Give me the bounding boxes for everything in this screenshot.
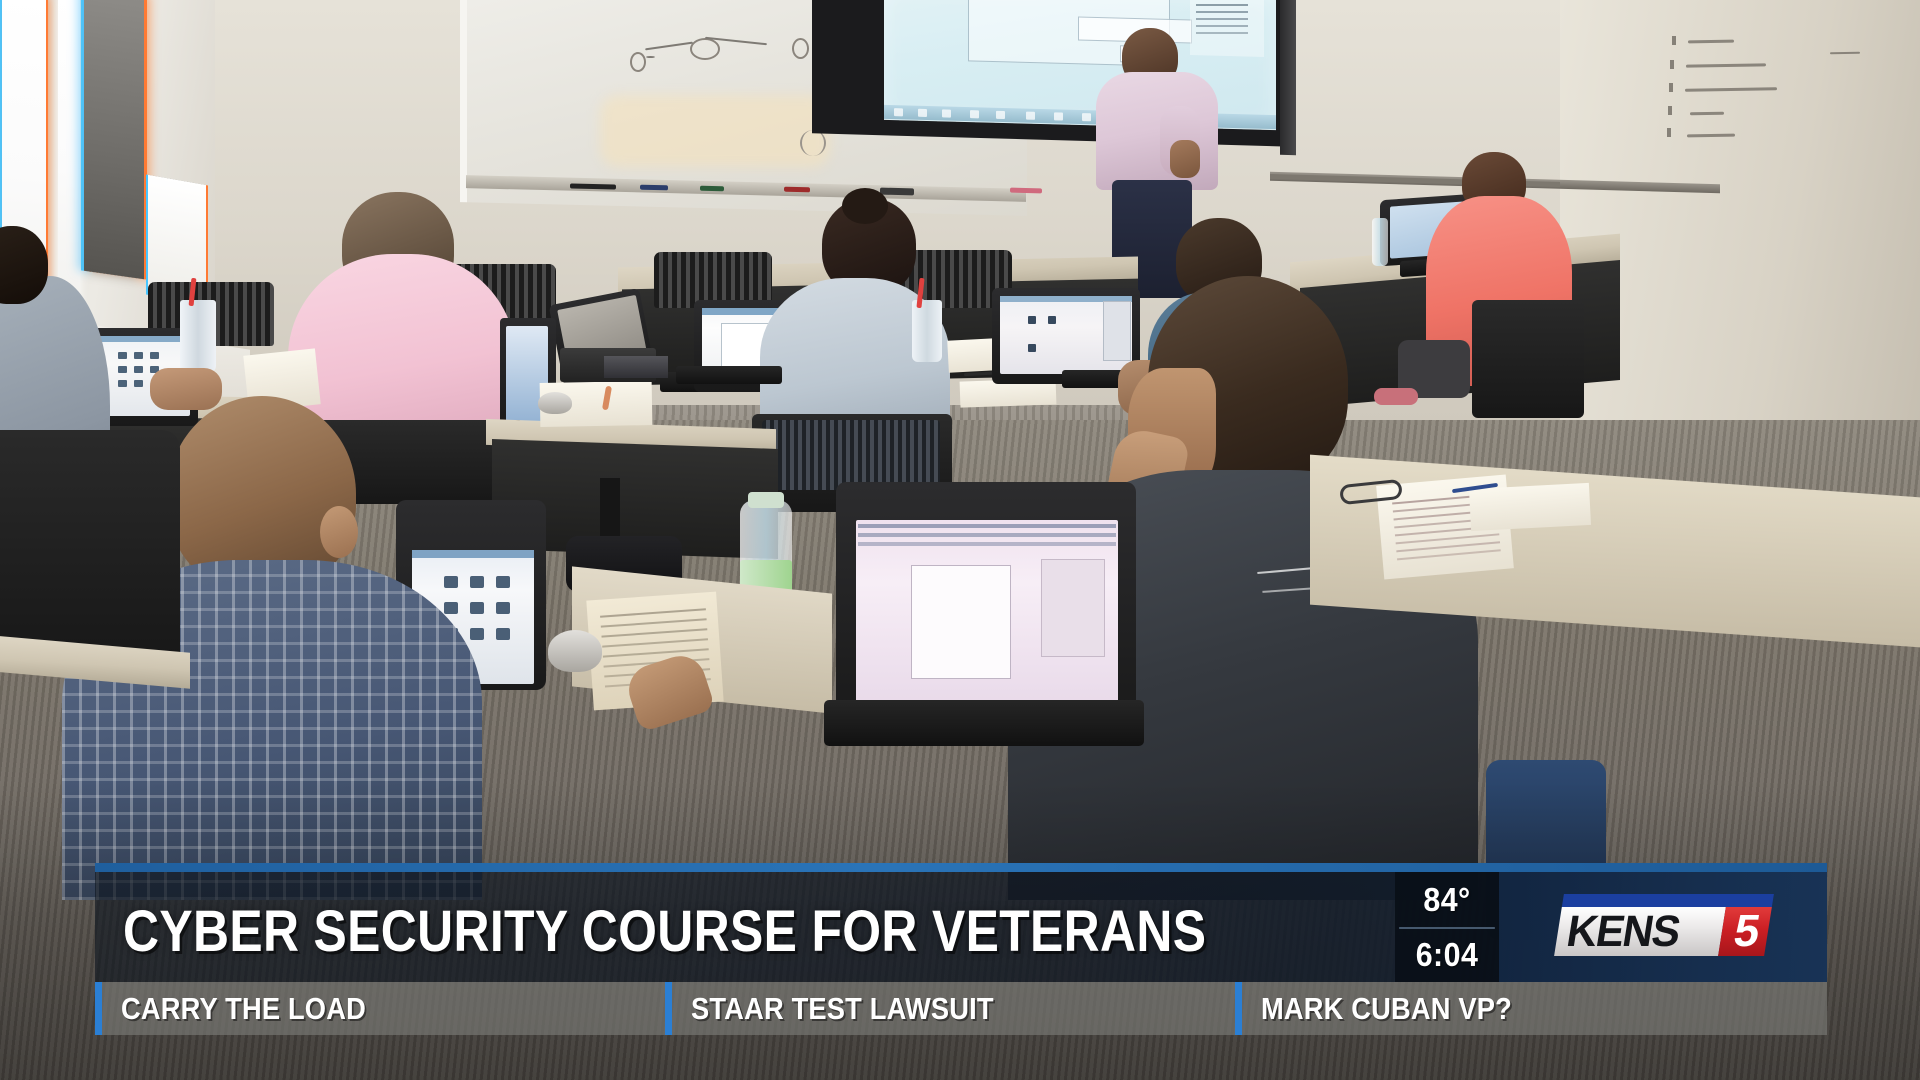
marker-pink [1010,188,1042,194]
wall-list-number-2 [1670,60,1674,69]
whiteboard-sketch-box-1 [630,52,646,72]
page-title: CYBER SECURITY COURSE FOR VETERANS [123,898,1206,965]
wall-list-number-5 [1667,128,1671,137]
window-blind [84,0,144,279]
drink-cup-middle [912,300,942,362]
bottle-cap-center [748,492,784,508]
papers-right-stack [1469,483,1591,531]
ticker-divider-icon [665,982,672,1035]
lower-third-banner: CYBER SECURITY COURSE FOR VETERANS 84° 6… [95,863,1827,1035]
arm-left-gray-student [150,368,222,410]
hand-instructor [1170,140,1200,178]
whiteboard-sketch-marks [800,130,826,156]
projected-sidebar [1190,0,1264,57]
whiteboard-sketch-node-a [690,38,720,60]
wall-list-number-4 [1668,106,1672,115]
keyboard-foreground-right [824,700,1144,746]
drink-cup-left [180,300,216,372]
ear-plaid-student [320,506,358,558]
monitor-sidepanel-foreground-right [1042,560,1104,656]
wall-list-number-1 [1672,36,1676,45]
monitor-toolpanel-right-center [1104,302,1130,360]
marker-blue [640,185,668,191]
ticker-item-2[interactable]: STAAR TEST LAWSUIT [665,982,1195,1035]
monitor-titlebar-foreground-left [412,550,534,558]
marker-green [700,186,724,192]
mouse-foreground [548,630,602,672]
news-ticker: CARRY THE LOAD STAAR TEST LAWSUIT MARK C… [95,982,1827,1035]
monitor-grid-left-row [118,352,127,359]
logo-channel-number: 5 [1722,908,1771,954]
clock-readout: 6:04 [1399,927,1495,982]
chair-far-right [1472,300,1584,418]
projector-screen-edge [1280,0,1296,155]
ticker-label: MARK CUBAN VP? [1261,991,1512,1027]
ticker-divider-icon [95,982,102,1035]
ticker-label: CARRY THE LOAD [121,991,366,1027]
chair-foreground-left [0,430,180,670]
banner-accent-bar [95,863,1827,872]
keyboard-center-back [676,366,782,384]
hair-bun [842,188,888,224]
ticker-label: STAAR TEST LAWSUIT [691,991,994,1027]
temperature-readout: 84° [1399,872,1495,929]
window-light-shaft [58,0,80,315]
mouse-center-foreground [538,392,572,414]
projected-text-lines [1196,4,1248,6]
kens5-logo: KENS 5 [1554,894,1774,956]
whiteboard-smudge [600,95,830,167]
station-logo-container: KENS 5 [1499,872,1827,982]
whiteboard-sketch-box-2 [792,38,809,59]
monitor-document-foreground-right [912,566,1010,678]
logo-wordmark: KENS [1564,909,1683,955]
shoe-far-right [1374,388,1418,405]
wall-list-item-4 [1690,112,1724,116]
monitor-icongrid-foreground-left [444,576,458,588]
weather-time-block: 84° 6:04 [1395,872,1499,982]
marker-red [784,187,810,193]
monitor-toolbars-foreground-right [858,524,1116,528]
wall-list-number-3 [1669,83,1673,92]
ticker-item-3[interactable]: MARK CUBAN VP? [1235,982,1795,1035]
water-bottle-far-right [1372,218,1388,266]
ticker-divider-icon [1235,982,1242,1035]
monitor-icons-right-center [1028,316,1036,324]
ticker-item-1[interactable]: CARRY THE LOAD [95,982,565,1035]
whiteboard-sketch-node-b [646,56,655,58]
skirt-bun-student [762,420,940,490]
broadcast-frame: CYBER SECURITY COURSE FOR VETERANS 84° 6… [0,0,1920,1080]
eraser [880,188,914,196]
equipment-stack-2 [604,356,668,378]
